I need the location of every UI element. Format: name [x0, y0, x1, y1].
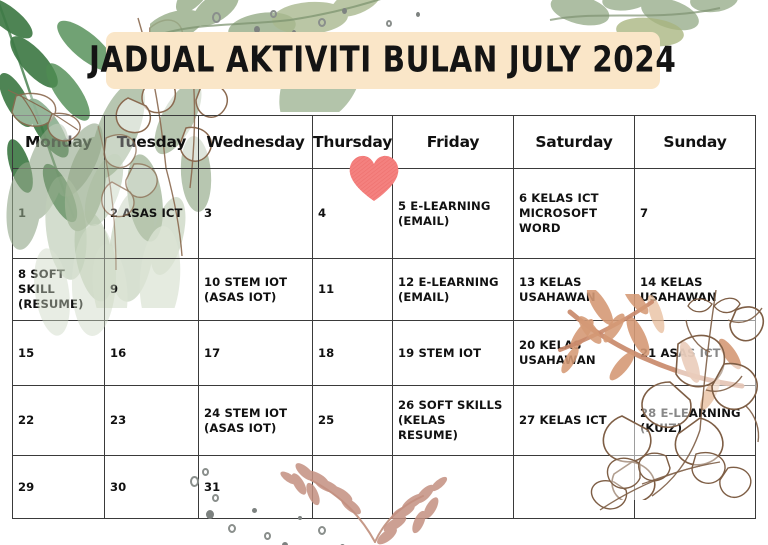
calendar-day-cell[interactable]: 14 KELAS USAHAWAN [635, 259, 756, 321]
calendar-day-cell[interactable]: 11 [313, 259, 393, 321]
calendar-day-cell[interactable]: 12 E-LEARNING (EMAIL) [393, 259, 514, 321]
title-banner: JADUAL AKTIVITI BULAN JULY 2024 [106, 32, 660, 89]
day-cell-content: 29 [18, 480, 99, 495]
calendar-day-cell[interactable]: 28 E-LEARNING (KUIZ) [635, 386, 756, 456]
calendar-page: JADUAL AKTIVITI BULAN JULY 2024 Monday T… [0, 0, 768, 545]
calendar-day-cell[interactable]: 31 [199, 456, 313, 519]
calendar-day-cell[interactable]: 26 SOFT SKILLS (KELAS RESUME) [393, 386, 514, 456]
calendar-week-row: 8 SOFT SKILL (RESUME) 9 10 STEM IOT (ASA… [13, 259, 756, 321]
calendar-day-cell[interactable]: 13 KELAS USAHAWAN [514, 259, 635, 321]
day-cell-content: 14 KELAS USAHAWAN [640, 275, 750, 305]
calendar-day-cell[interactable]: 30 [105, 456, 199, 519]
day-cell-content: 11 [318, 282, 387, 297]
day-cell-content: 20 KELAS USAHAWAN [519, 338, 629, 368]
calendar-week-row: 29 30 31 [13, 456, 756, 519]
day-cell-content: 9 [110, 282, 193, 297]
calendar-day-cell[interactable]: 2 ASAS ICT [105, 169, 199, 259]
day-cell-content: 1 [18, 206, 99, 221]
day-cell-content: 17 [204, 346, 307, 361]
day-cell-content: 30 [110, 480, 193, 495]
calendar-day-cell[interactable]: 25 [313, 386, 393, 456]
calendar-day-cell[interactable]: 29 [13, 456, 105, 519]
calendar-day-cell[interactable]: 24 STEM IOT (ASAS IOT) [199, 386, 313, 456]
day-cell-content: 12 E-LEARNING (EMAIL) [398, 275, 508, 305]
calendar-day-cell[interactable]: 21 ASAS ICT [635, 321, 756, 386]
day-cell-content: 10 STEM IOT (ASAS IOT) [204, 275, 307, 305]
day-header-friday: Friday [393, 116, 514, 169]
calendar-day-cell[interactable]: 9 [105, 259, 199, 321]
day-cell-content: 19 STEM IOT [398, 346, 508, 361]
day-header-sunday: Sunday [635, 116, 756, 169]
calendar-day-cell[interactable] [313, 456, 393, 519]
page-title: JADUAL AKTIVITI BULAN JULY 2024 [89, 40, 676, 81]
calendar-day-cell[interactable]: 27 KELAS ICT [514, 386, 635, 456]
day-cell-content: 21 ASAS ICT [640, 346, 750, 361]
calendar-day-cell[interactable]: 6 KELAS ICT MICROSOFT WORD [514, 169, 635, 259]
calendar-day-cell[interactable]: 3 [199, 169, 313, 259]
day-cell-content: 31 [204, 480, 307, 495]
day-cell-content: 3 [204, 206, 307, 221]
calendar-day-cell[interactable]: 16 [105, 321, 199, 386]
calendar-week-row: 22 23 24 STEM IOT (ASAS IOT) 25 26 SOFT … [13, 386, 756, 456]
calendar-day-cell[interactable]: 17 [199, 321, 313, 386]
calendar-day-cell[interactable]: 15 [13, 321, 105, 386]
day-cell-content: 13 KELAS USAHAWAN [519, 275, 629, 305]
calendar-day-cell[interactable] [393, 456, 514, 519]
day-cell-content: 22 [18, 413, 99, 428]
day-header-wednesday: Wednesday [199, 116, 313, 169]
day-cell-content: 25 [318, 413, 387, 428]
day-cell-content: 27 KELAS ICT [519, 413, 629, 428]
calendar-day-cell[interactable]: 1 [13, 169, 105, 259]
day-cell-content: 2 ASAS ICT [110, 206, 193, 221]
day-cell-content: 5 E-LEARNING (EMAIL) [398, 199, 508, 229]
calendar-day-cell[interactable]: 23 [105, 386, 199, 456]
calendar-day-cell[interactable]: 7 [635, 169, 756, 259]
day-cell-content: 23 [110, 413, 193, 428]
day-cell-content: 8 SOFT SKILL (RESUME) [18, 267, 99, 311]
calendar-day-cell[interactable]: 18 [313, 321, 393, 386]
day-header-tuesday: Tuesday [105, 116, 199, 169]
day-cell-content: 16 [110, 346, 193, 361]
heart-icon [345, 152, 403, 204]
calendar-day-cell[interactable]: 10 STEM IOT (ASAS IOT) [199, 259, 313, 321]
calendar-day-cell[interactable] [514, 456, 635, 519]
calendar-day-cell[interactable] [635, 456, 756, 519]
day-cell-content: 24 STEM IOT (ASAS IOT) [204, 406, 307, 436]
calendar-day-cell[interactable]: 22 [13, 386, 105, 456]
calendar-day-cell[interactable]: 20 KELAS USAHAWAN [514, 321, 635, 386]
calendar-week-row: 15 16 17 18 19 STEM IOT 20 KELAS USAHAWA… [13, 321, 756, 386]
calendar-day-cell[interactable]: 5 E-LEARNING (EMAIL) [393, 169, 514, 259]
day-cell-content: 6 KELAS ICT MICROSOFT WORD [519, 191, 629, 235]
day-cell-content: 15 [18, 346, 99, 361]
day-cell-content: 18 [318, 346, 387, 361]
day-cell-content: 28 E-LEARNING (KUIZ) [640, 406, 750, 436]
day-cell-content: 4 [318, 206, 387, 221]
calendar-day-cell[interactable]: 19 STEM IOT [393, 321, 514, 386]
calendar-day-cell[interactable]: 8 SOFT SKILL (RESUME) [13, 259, 105, 321]
day-cell-content: 7 [640, 206, 750, 221]
day-cell-content: 26 SOFT SKILLS (KELAS RESUME) [398, 398, 508, 442]
day-header-monday: Monday [13, 116, 105, 169]
day-header-saturday: Saturday [514, 116, 635, 169]
